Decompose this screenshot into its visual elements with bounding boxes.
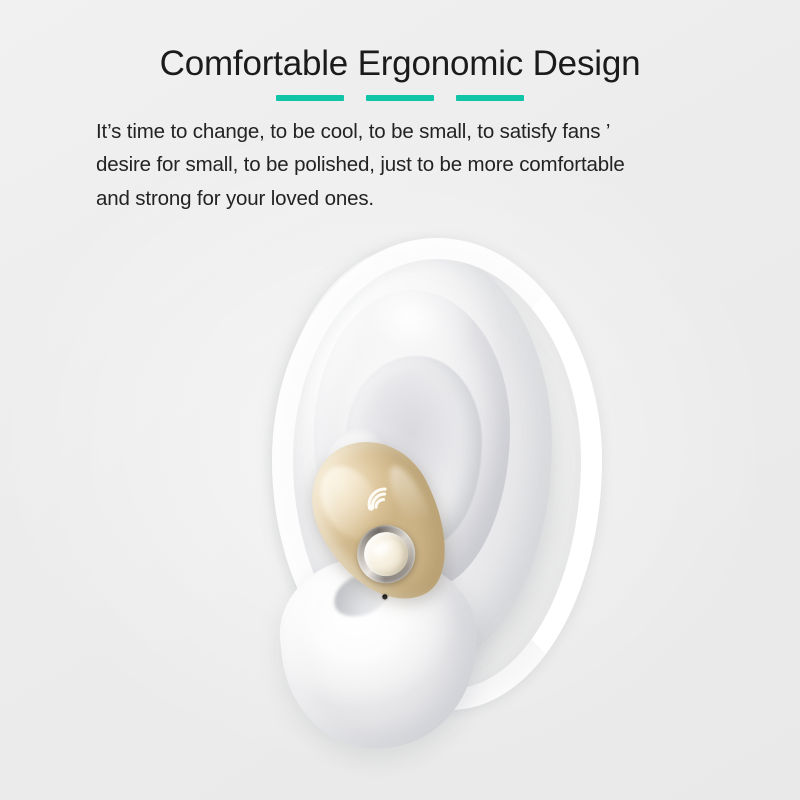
description-paragraph: It’s time to change, to be cool, to be s… (0, 101, 800, 215)
product-photo (0, 228, 800, 800)
description-line-1: It’s time to change, to be cool, to be s… (96, 115, 726, 148)
ear-model (262, 238, 568, 738)
divider-dash-2 (366, 95, 434, 101)
page-title: Comfortable Ergonomic Design (0, 0, 800, 84)
divider-dash-3 (456, 95, 524, 101)
wifi-signal-icon (362, 480, 396, 512)
earbud-button-highlight (371, 537, 397, 559)
header: Comfortable Ergonomic Design It’s time t… (0, 0, 800, 215)
product-banner: Comfortable Ergonomic Design It’s time t… (0, 0, 800, 800)
description-line-2: desire for small, to be polished, just t… (96, 148, 726, 181)
description-line-3: and strong for your loved ones. (96, 182, 726, 215)
divider-dash-1 (276, 95, 344, 101)
